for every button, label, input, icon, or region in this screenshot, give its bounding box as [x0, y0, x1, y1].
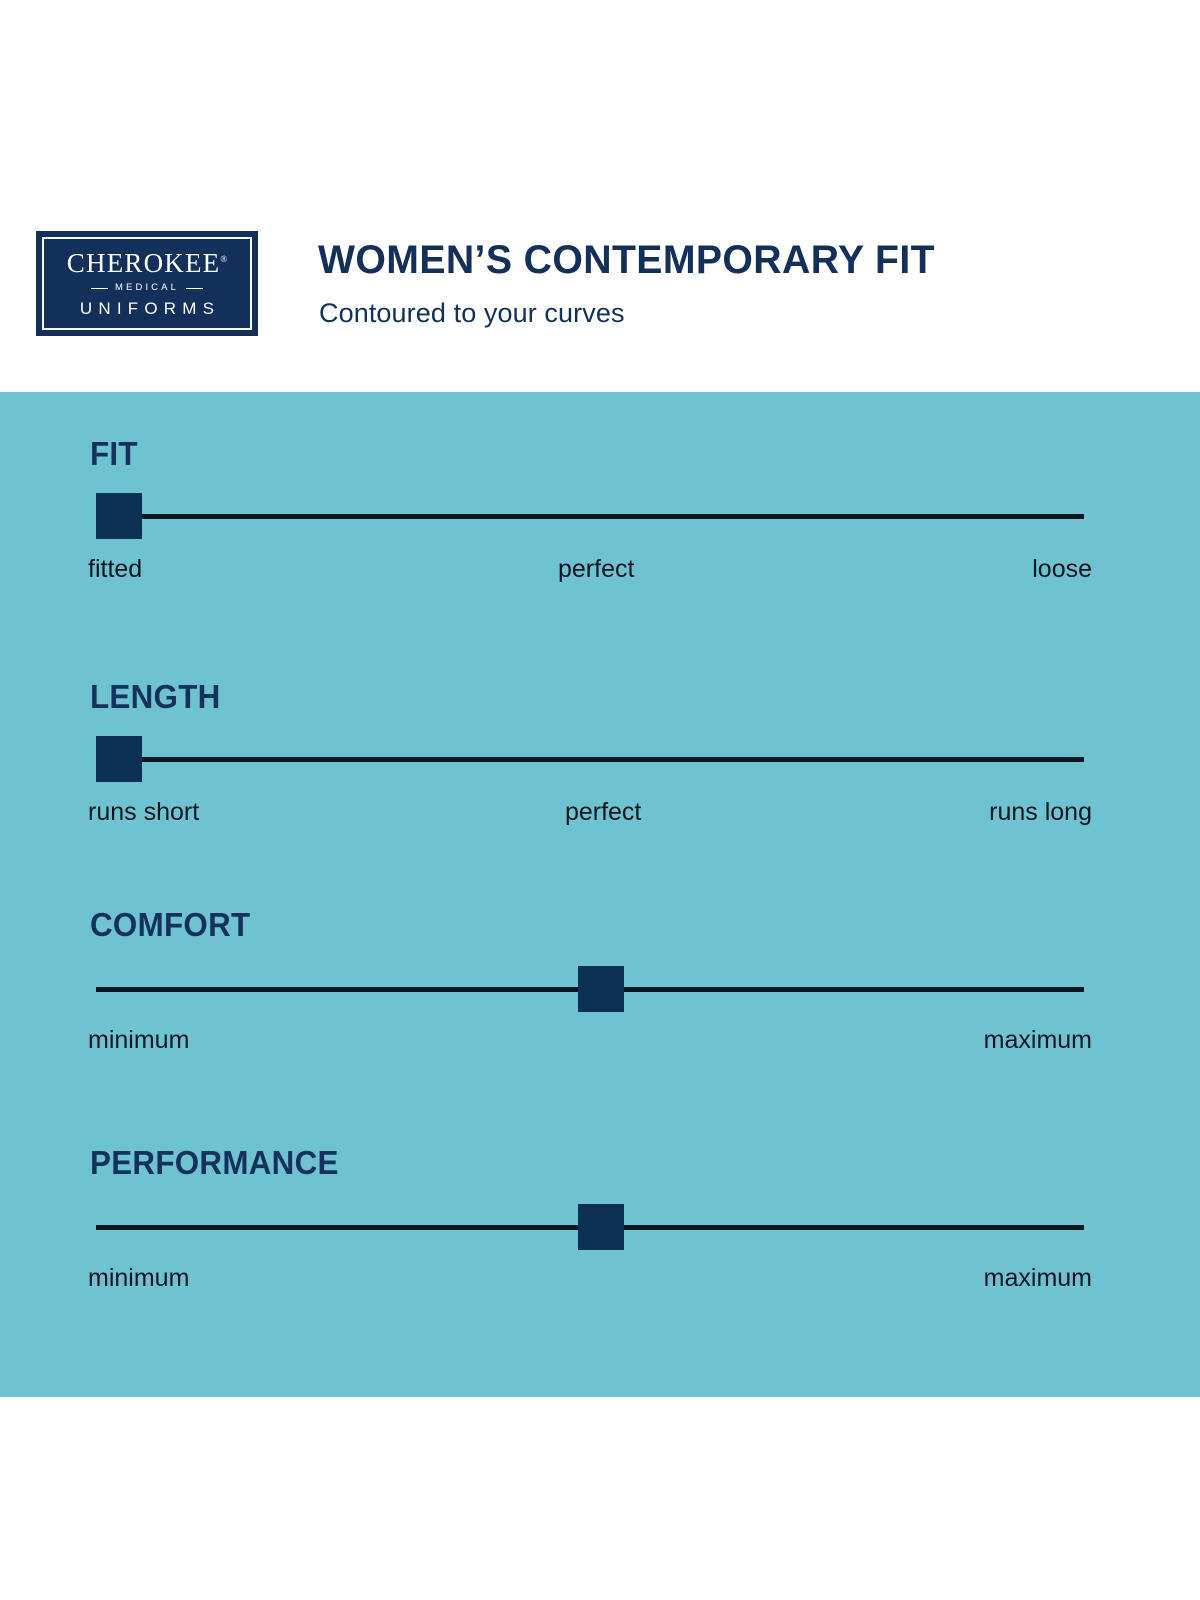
registered-trademark-icon: ®: [220, 254, 227, 264]
page-header: CHEROKEE® MEDICAL UNIFORMS WOMEN’S CONTE…: [0, 0, 1200, 392]
slider-label-length-middle: perfect: [199, 800, 989, 825]
slider-label-performance-start: minimum: [88, 1266, 189, 1291]
slider-handle-length[interactable]: [96, 736, 142, 782]
slider-label-fit-start: fitted: [88, 557, 142, 582]
slider-performance[interactable]: [96, 1204, 1084, 1250]
slider-scale-comfort: minimum maximum: [88, 1028, 1092, 1053]
slider-label-length-start: runs short: [88, 800, 199, 825]
slider-title-length: LENGTH: [90, 680, 221, 713]
logo-medical-text: MEDICAL: [115, 283, 179, 293]
slider-handle-comfort[interactable]: [578, 966, 624, 1012]
slider-label-fit-middle: perfect: [142, 557, 1032, 582]
slider-scale-length: runs short perfect runs long: [88, 800, 1092, 825]
logo-medical-row: MEDICAL: [91, 283, 203, 293]
slider-handle-performance[interactable]: [578, 1204, 624, 1250]
slider-track-fit[interactable]: [96, 514, 1084, 519]
logo-rule-right-icon: [186, 288, 203, 289]
slider-title-comfort: COMFORT: [90, 908, 250, 941]
logo-inner-border: CHEROKEE® MEDICAL UNIFORMS: [42, 237, 252, 330]
logo-uniforms-text: UNIFORMS: [74, 300, 220, 317]
slider-label-fit-end: loose: [1032, 557, 1092, 582]
slider-scale-fit: fitted perfect loose: [88, 557, 1092, 582]
slider-label-comfort-end: maximum: [984, 1028, 1092, 1053]
slider-title-performance: PERFORMANCE: [90, 1146, 339, 1179]
cherokee-medical-uniforms-logo: CHEROKEE® MEDICAL UNIFORMS: [36, 231, 258, 336]
slider-handle-fit[interactable]: [96, 493, 142, 539]
slider-label-length-end: runs long: [989, 800, 1092, 825]
page-subtitle: Contoured to your curves: [319, 297, 625, 329]
slider-comfort[interactable]: [96, 966, 1084, 1012]
slider-track-length[interactable]: [96, 757, 1084, 762]
page-title: WOMEN’S CONTEMPORARY FIT: [318, 238, 935, 282]
slider-length[interactable]: [96, 736, 1084, 782]
logo-brand-text: CHEROKEE®: [67, 250, 227, 277]
slider-title-fit: FIT: [90, 437, 138, 470]
slider-fit[interactable]: [96, 493, 1084, 539]
logo-brand-word: CHEROKEE: [67, 248, 221, 278]
slider-label-performance-end: maximum: [984, 1266, 1092, 1291]
slider-label-comfort-start: minimum: [88, 1028, 189, 1053]
slider-scale-performance: minimum maximum: [88, 1266, 1092, 1291]
logo-rule-left-icon: [91, 288, 108, 289]
